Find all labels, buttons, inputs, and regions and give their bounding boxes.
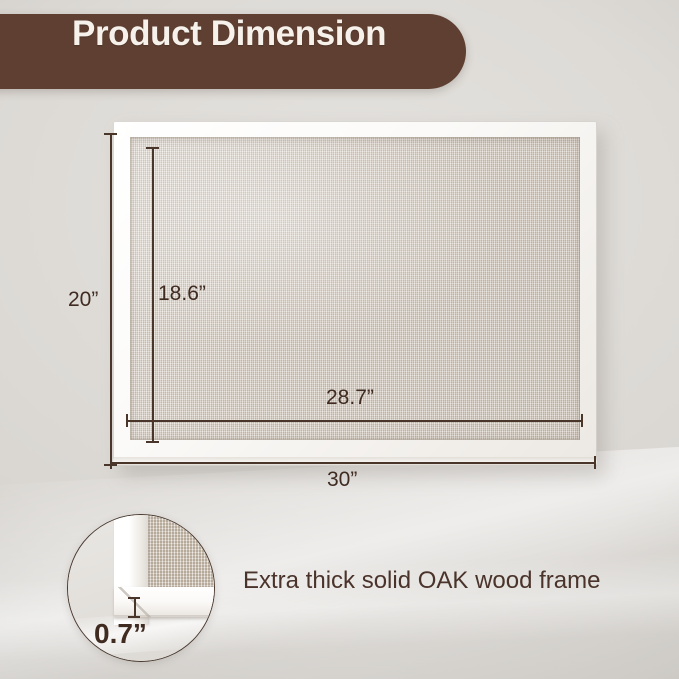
dimension-line-surface-width <box>126 420 583 422</box>
tick-surface-width-right <box>581 414 583 427</box>
tick-surface-height-bottom <box>146 441 159 443</box>
dimension-label-overall-height: 20” <box>68 288 98 312</box>
thickness-caliper-cap-top <box>128 597 140 599</box>
tick-overall-width-left <box>110 456 112 469</box>
dimension-label-frame-thickness: 0.7” <box>94 618 147 650</box>
dimension-line-overall-height <box>110 133 112 465</box>
tick-surface-height-top <box>146 147 159 149</box>
thickness-caliper-line <box>134 597 136 617</box>
tick-surface-width-left <box>126 414 128 427</box>
dimension-line-overall-width <box>110 462 596 464</box>
dimension-label-overall-width: 30” <box>327 468 357 492</box>
dimension-line-surface-height <box>152 147 154 442</box>
feature-tagline: Extra thick solid OAK wood frame <box>243 567 600 595</box>
page-title: Product Dimension <box>72 14 386 54</box>
infographic-canvas: Product Dimension 20” 18.6” 28.7” 30” <box>0 0 679 679</box>
dimension-label-surface-height: 18.6” <box>158 282 206 306</box>
tick-overall-width-right <box>594 456 596 469</box>
magnifier-linen-patch <box>144 514 215 595</box>
frame-thickness-magnifier: 0.7” <box>67 514 215 662</box>
tick-overall-height-top <box>104 133 117 135</box>
dimension-label-surface-width: 28.7” <box>326 386 374 410</box>
